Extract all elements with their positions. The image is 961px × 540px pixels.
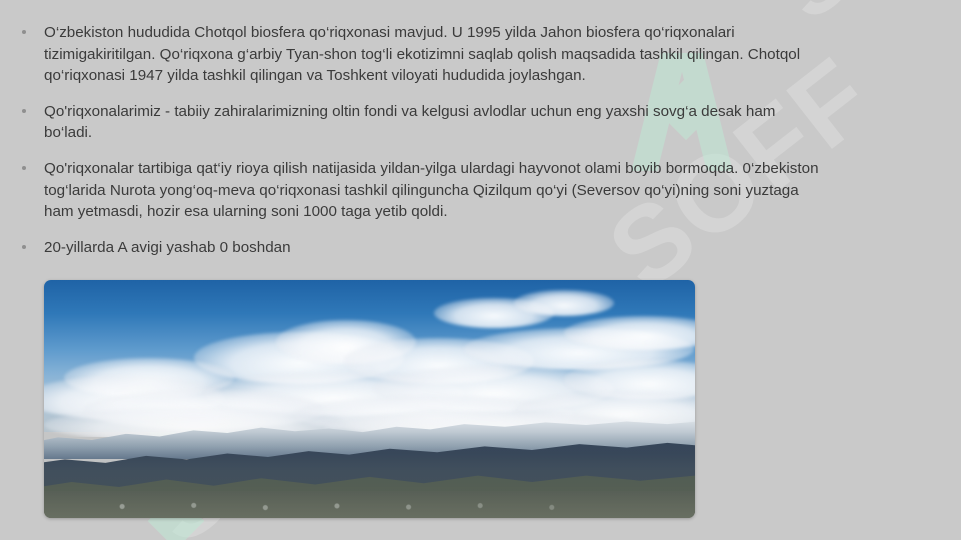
- presentation-slide: SOFF SOFF SO O‘zbekiston hududida Chotqo…: [0, 0, 961, 540]
- bullet-marker-icon: [22, 166, 26, 170]
- bullet-marker-icon: [22, 30, 26, 34]
- bullet-list: O‘zbekiston hududida Chotqol biosfera qo…: [0, 22, 961, 258]
- mountain-landscape-photo: [44, 280, 695, 518]
- bullet-text-1: O‘zbekiston hududida Chotqol biosfera qo…: [44, 24, 800, 84]
- slide-body-text: O‘zbekiston hududida Chotqol biosfera qo…: [0, 0, 961, 272]
- bullet-text-3: Qo'riqxonalar tartibiga qat‘iy rioya qil…: [44, 160, 819, 220]
- bullet-marker-icon: [22, 109, 26, 113]
- photo-mountains: [44, 413, 695, 518]
- bullet-text-4: 20-yillarda A avigi yashab 0 boshdan: [44, 239, 291, 256]
- bullet-text-2: Qo'riqxonalarimiz - tabiiy zahiralarimiz…: [44, 103, 775, 142]
- bullet-marker-icon: [22, 245, 26, 249]
- bullet-item-1: O‘zbekiston hududida Chotqol biosfera qo…: [0, 22, 961, 87]
- bullet-item-3: Qo'riqxonalar tartibiga qat‘iy rioya qil…: [0, 158, 961, 223]
- bullet-item-4: 20-yillarda A avigi yashab 0 boshdan: [0, 237, 961, 259]
- bullet-item-2: Qo'riqxonalarimiz - tabiiy zahiralarimiz…: [0, 101, 961, 144]
- photo-valley-settlement: [44, 501, 695, 511]
